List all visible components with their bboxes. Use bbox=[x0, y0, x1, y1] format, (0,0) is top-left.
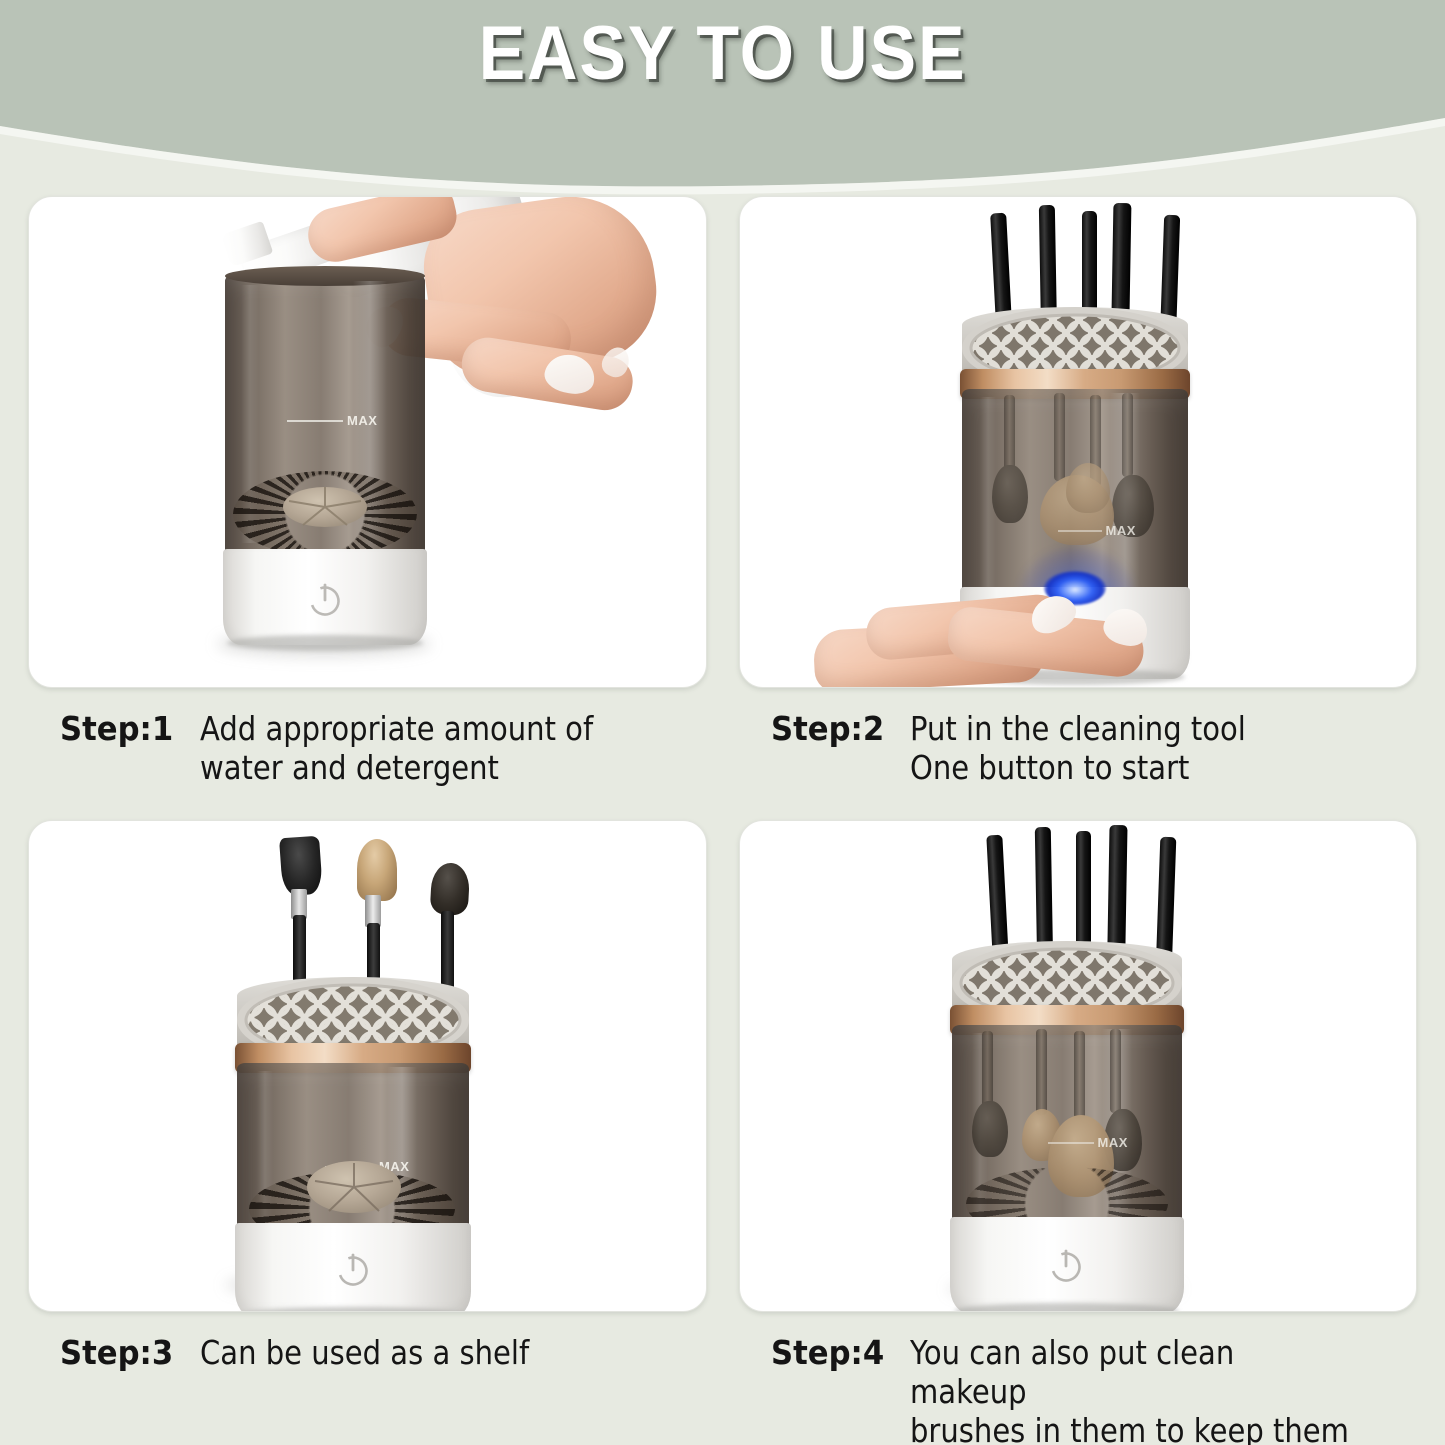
step-photo-4: MAX bbox=[739, 820, 1418, 1312]
step-caption-4: Step:4 You can also put clean makeup bru… bbox=[739, 1312, 1418, 1445]
step-photo-2: MAX bbox=[739, 196, 1418, 688]
device-foot bbox=[954, 1303, 1179, 1312]
step-block-2: MAX bbox=[739, 196, 1418, 806]
cup-rim bbox=[225, 266, 425, 286]
device-base bbox=[235, 1223, 471, 1312]
step-caption-2: Step:2 Put in the cleaning tool One butt… bbox=[739, 688, 1418, 806]
step-block-1: MAX bbox=[28, 196, 707, 806]
step-caption-3: Step:3 Can be used as a shelf bbox=[28, 1312, 707, 1430]
step-text-2: Put in the cleaning tool One button to s… bbox=[910, 710, 1246, 788]
page-title: EASY TO USE bbox=[58, 10, 1387, 97]
max-tick bbox=[287, 420, 343, 422]
step-label-2: Step:2 bbox=[771, 710, 884, 749]
device-cup: MAX bbox=[225, 275, 425, 575]
step-label-3: Step:3 bbox=[60, 1334, 173, 1373]
step-block-4: MAX bbox=[739, 820, 1418, 1445]
step-photo-3: MAX bbox=[28, 820, 707, 1312]
step-text-3: Can be used as a shelf bbox=[200, 1334, 529, 1373]
device-base bbox=[223, 549, 427, 645]
step-label-4: Step:4 bbox=[771, 1334, 884, 1373]
step-caption-1: Step:1 Add appropriate amount of water a… bbox=[28, 688, 707, 806]
device-cup: MAX bbox=[952, 1025, 1182, 1241]
impeller-hub bbox=[283, 487, 367, 527]
power-button-icon[interactable] bbox=[333, 1249, 373, 1289]
impeller-star bbox=[283, 487, 367, 527]
step-text-4: You can also put clean makeup brushes in… bbox=[910, 1334, 1352, 1445]
steps-grid: MAX bbox=[0, 196, 1445, 1445]
device-cup: MAX bbox=[237, 1063, 469, 1247]
step-label-1: Step:1 bbox=[60, 710, 173, 749]
device-foot bbox=[240, 1307, 467, 1312]
step-photo-1: MAX bbox=[28, 196, 707, 688]
step-block-3: MAX bbox=[28, 820, 707, 1445]
impeller-hub bbox=[307, 1161, 401, 1213]
power-button-icon[interactable] bbox=[305, 579, 345, 619]
device-foot bbox=[227, 635, 423, 651]
device-base bbox=[950, 1217, 1184, 1312]
impeller-star bbox=[307, 1161, 401, 1213]
infographic-page: EASY TO USE bbox=[0, 0, 1445, 1445]
step-text-1: Add appropriate amount of water and dete… bbox=[200, 710, 593, 788]
power-button-icon[interactable] bbox=[1046, 1245, 1086, 1285]
